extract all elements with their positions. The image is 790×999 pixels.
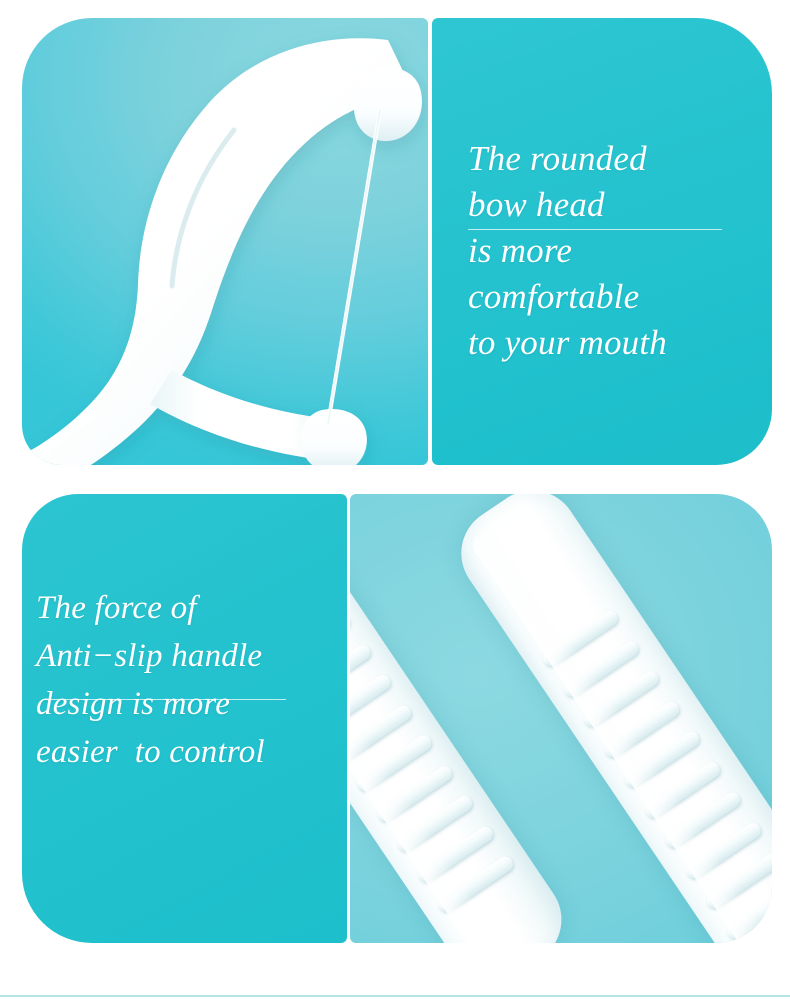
bottom-hairline-rule (0, 995, 790, 997)
anti-slip-line-3: design is more (36, 680, 346, 728)
anti-slip-line-1: The force of (36, 584, 346, 632)
bow-head-divider (468, 229, 722, 230)
anti-slip-divider (43, 699, 286, 700)
anti-slip-feature-text: The force of Anti−slip handle design is … (36, 584, 346, 776)
anti-slip-handles-illustration (350, 494, 772, 943)
bow-head-feature-text: The rounded bow head is more comfortable… (468, 136, 768, 366)
anti-slip-line-2: Anti−slip handle (36, 632, 346, 680)
floss-pick-illustration (22, 18, 428, 465)
bottom-text-panel: The force of Anti−slip handle design is … (22, 494, 347, 943)
anti-slip-line-4: easier to control (36, 728, 346, 776)
bottom-photo-panel (350, 494, 772, 943)
image-canvas: The rounded bow head is more comfortable… (0, 0, 790, 999)
bow-head-line-4: comfortable (468, 274, 768, 320)
top-text-panel: The rounded bow head is more comfortable… (432, 18, 772, 465)
handle-right-ridges (536, 605, 772, 943)
bow-head-line-2: bow head (468, 182, 768, 228)
bow-head-line-3: is more (468, 228, 768, 274)
top-photo-panel (22, 18, 428, 465)
bow-head-line-5: to your mouth (468, 320, 768, 366)
bow-head-line-1: The rounded (468, 136, 768, 182)
